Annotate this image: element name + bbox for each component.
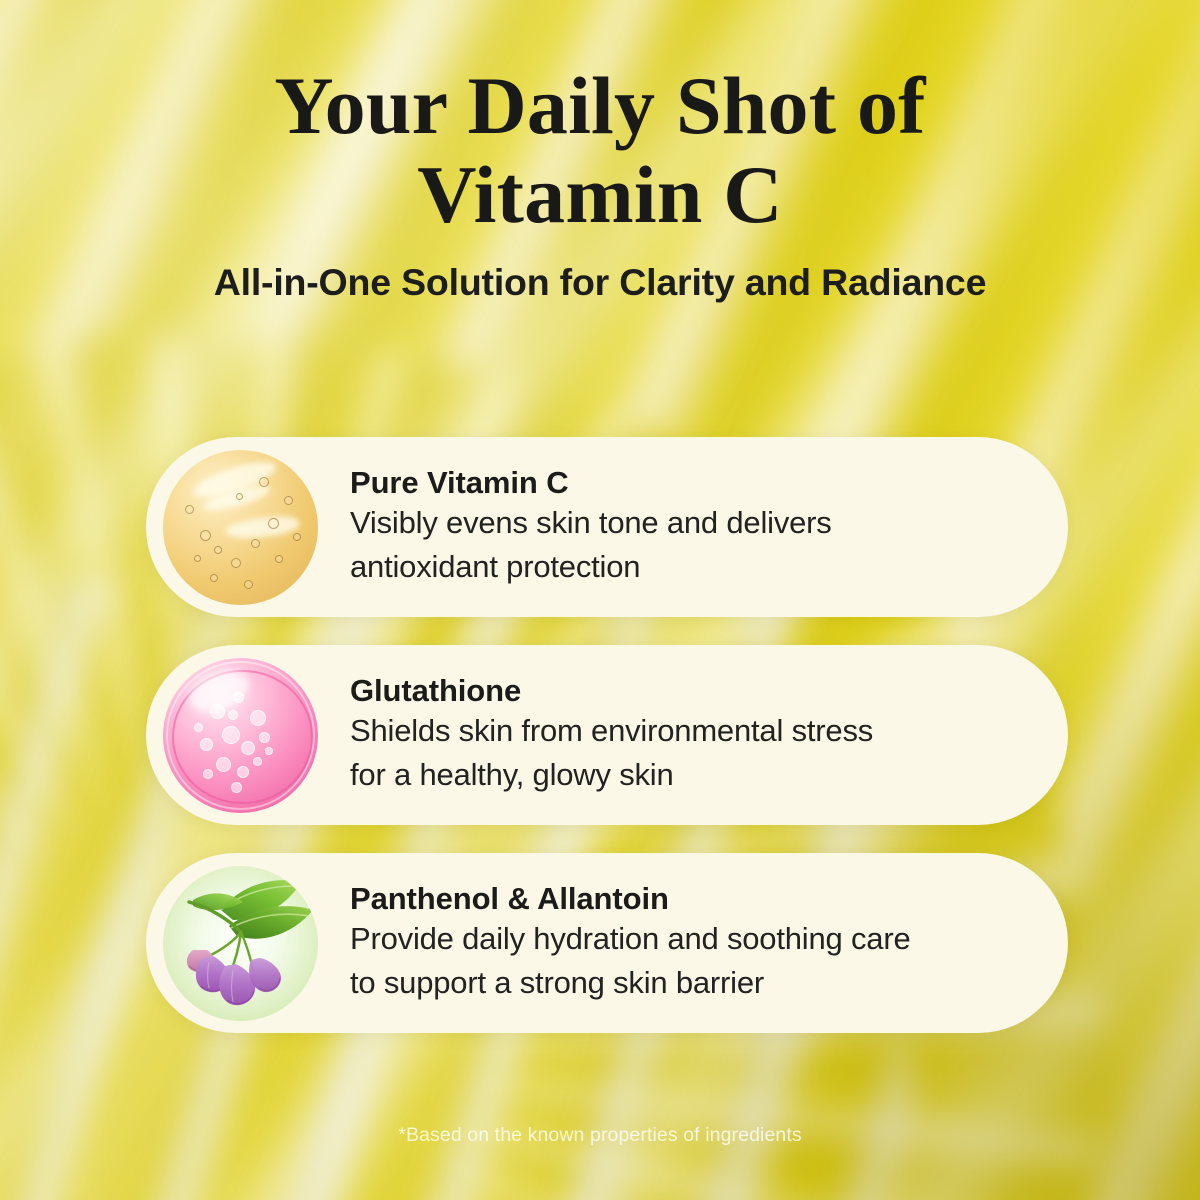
footnote-disclaimer: *Based on the known properties of ingred… bbox=[0, 1124, 1200, 1147]
ingredient-name: Glutathione bbox=[350, 673, 873, 710]
comfrey-plant-icon bbox=[163, 866, 318, 1021]
ingredient-card-glutathione[interactable]: Glutathione Shields skin from environmen… bbox=[146, 645, 1068, 825]
ingredient-name: Panthenol & Allantoin bbox=[350, 881, 911, 918]
ingredient-description-line-1: Provide daily hydration and soothing car… bbox=[350, 921, 911, 956]
ingredient-card-panthenol-allantoin[interactable]: Panthenol & Allantoin Provide daily hydr… bbox=[146, 853, 1068, 1033]
ingredient-description: Provide daily hydration and soothing car… bbox=[350, 917, 911, 1005]
golden-gel-swatch-icon bbox=[163, 450, 318, 605]
ingredient-card-text: Pure Vitamin C Visibly evens skin tone a… bbox=[350, 465, 858, 590]
promo-poster: Your Daily Shot of Vitamin C All-in-One … bbox=[0, 0, 1200, 1200]
page-title-line-2: Vitamin C bbox=[417, 149, 782, 240]
ingredient-card-list: Pure Vitamin C Visibly evens skin tone a… bbox=[146, 437, 1068, 1061]
ingredient-card-pure-vitamin-c[interactable]: Pure Vitamin C Visibly evens skin tone a… bbox=[146, 437, 1068, 617]
ingredient-description: Visibly evens skin tone and delivers ant… bbox=[350, 501, 832, 589]
ingredient-description-line-2: to support a strong skin barrier bbox=[350, 965, 764, 1000]
ingredient-description-line-2: antioxidant protection bbox=[350, 549, 640, 584]
ingredient-card-text: Panthenol & Allantoin Provide daily hydr… bbox=[350, 881, 937, 1006]
ingredient-description-line-2: for a healthy, glowy skin bbox=[350, 757, 674, 792]
ingredient-card-text: Glutathione Shields skin from environmen… bbox=[350, 673, 899, 798]
ingredient-name: Pure Vitamin C bbox=[350, 465, 832, 502]
header-block: Your Daily Shot of Vitamin C All-in-One … bbox=[0, 62, 1200, 304]
page-subtitle: All-in-One Solution for Clarity and Radi… bbox=[0, 261, 1200, 304]
pink-gel-droplet-icon bbox=[163, 658, 318, 813]
ingredient-description-line-1: Visibly evens skin tone and delivers bbox=[350, 505, 832, 540]
ingredient-description-line-1: Shields skin from environmental stress bbox=[350, 713, 873, 748]
page-title-line-1: Your Daily Shot of bbox=[274, 60, 925, 151]
page-title: Your Daily Shot of Vitamin C bbox=[220, 62, 980, 239]
ingredient-description: Shields skin from environmental stress f… bbox=[350, 709, 873, 797]
